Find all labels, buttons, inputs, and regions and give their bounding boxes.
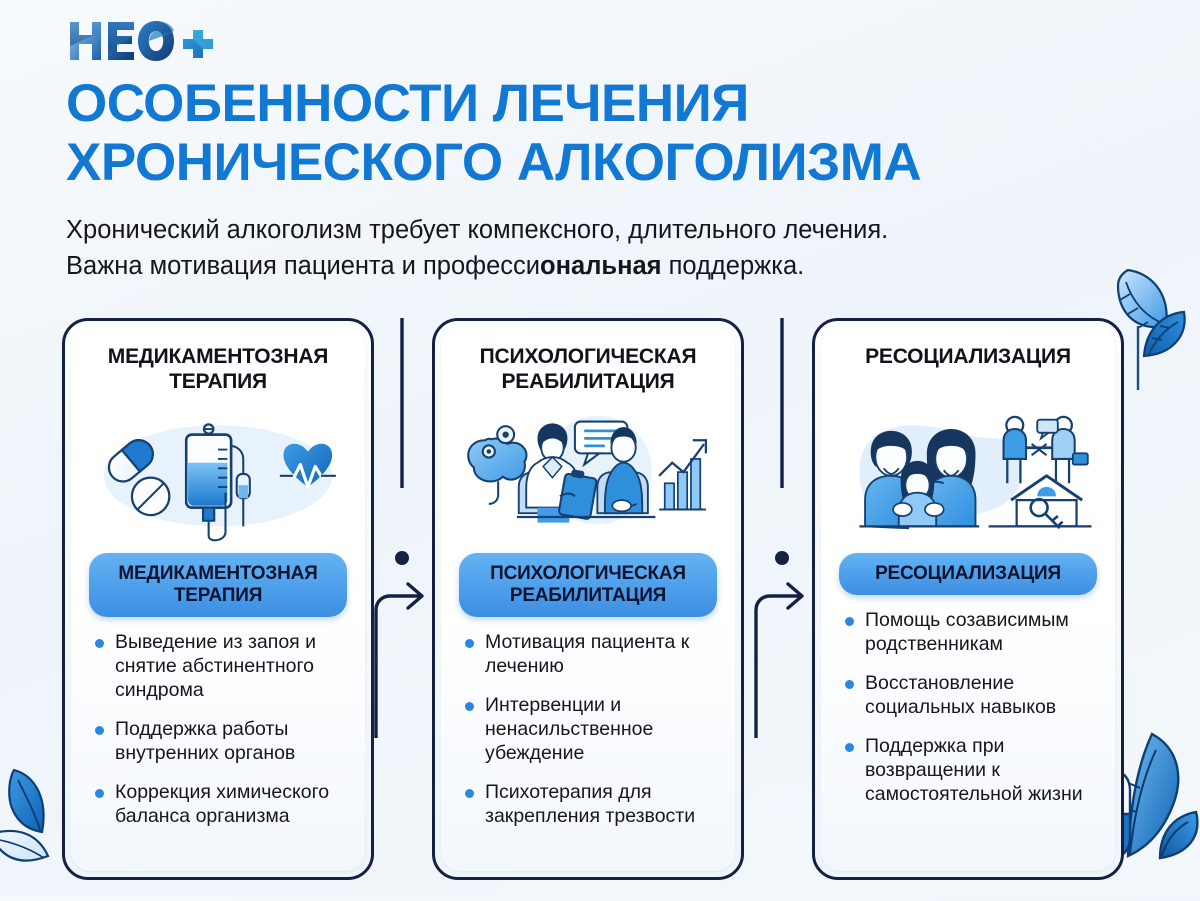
iv-drip-pills-heart-icon [87,399,349,547]
list-item: Психотерапия для закрепления трезвости [463,781,717,829]
page-subtitle-line-1: Хронический алкоголизм требует компексно… [66,212,1126,248]
page-title: ОСОБЕННОСТИ ЛЕЧЕНИЯ ХРОНИЧЕСКОГО АЛКОГОЛ… [66,74,1146,193]
card-inner: ПСИХОЛОГИЧЕСКАЯ РЕАБИЛИТАЦИЯ [441,327,735,871]
card-pill-label[interactable]: РЕСОЦИАЛИЗАЦИЯ [839,553,1097,595]
list-item: Поддержка работы внутренних органов [93,718,347,766]
subtitle-suffix: поддержка. [662,252,805,280]
list-item: Восстановление социальных навыков [843,672,1097,720]
list-item: Коррекция химического баланса организма [93,781,347,829]
card-inner: РЕСОЦИАЛИЗАЦИЯ [821,327,1115,871]
treatment-stage-cards: МЕДИКАМЕНТОЗНАЯ ТЕРАПИЯ [0,318,1200,888]
list-item: Помощь созависимым родственникам [843,609,1097,657]
card-psihologicheskaya-reabilitaciya[interactable]: ПСИХОЛОГИЧЕСКАЯ РЕАБИЛИТАЦИЯ [432,318,744,880]
card-pill-label[interactable]: МЕДИКАМЕНТОЗНАЯ ТЕРАПИЯ [89,553,347,617]
card-heading: ПСИХОЛОГИЧЕСКАЯ РЕАБИЛИТАЦИЯ [457,345,719,395]
card-heading: РЕСОЦИАЛИЗАЦИЯ [837,345,1099,395]
subtitle-prefix: Важна мотивация пациента и професси [66,252,540,280]
subtitle-emphasis: ональная [540,252,662,280]
card-bullet-list: Мотивация пациента к лечению Интервенции… [457,629,719,844]
card-inner: МЕДИКАМЕНТОЗНАЯ ТЕРАПИЯ [71,327,365,871]
card-heading: МЕДИКАМЕНТОЗНАЯ ТЕРАПИЯ [87,345,349,395]
card-bullet-list: Помощь созависимым родственникам Восстан… [837,607,1099,822]
page-subtitle: Хронический алкоголизм требует компексно… [66,212,1126,284]
card-pill-label[interactable]: ПСИХОЛОГИЧЕСКАЯ РЕАБИЛИТАЦИЯ [459,553,717,617]
page-title-line-1: ОСОБЕННОСТИ ЛЕЧЕНИЯ [66,74,1146,133]
neo-plus-logo [68,18,238,64]
card-resocializaciya[interactable]: РЕСОЦИАЛИЗАЦИЯ [812,318,1124,880]
page-subtitle-line-2: Важна мотивация пациента и профессиональ… [66,248,1126,284]
infographic-page: ОСОБЕННОСТИ ЛЕЧЕНИЯ ХРОНИЧЕСКОГО АЛКОГОЛ… [0,0,1200,896]
family-handshake-house-icon [837,399,1099,547]
card-medikamentoznaya-terapiya[interactable]: МЕДИКАМЕНТОЗНАЯ ТЕРАПИЯ [62,318,374,880]
list-item: Мотивация пациента к лечению [463,631,717,679]
list-item: Интервенции и ненасильственное убеждение [463,694,717,766]
list-item: Выведение из запоя и снятие абстинентног… [93,631,347,703]
card-bullet-list: Выведение из запоя и снятие абстинентног… [87,629,349,844]
arrow-card2-to-card3 [752,318,816,743]
arrow-card1-to-card2 [372,318,436,743]
list-item: Поддержка при возвращении к самостоятель… [843,735,1097,807]
therapy-session-icon [457,399,719,547]
page-title-line-2: ХРОНИЧЕСКОГО АЛКОГОЛИЗМА [66,133,1146,192]
